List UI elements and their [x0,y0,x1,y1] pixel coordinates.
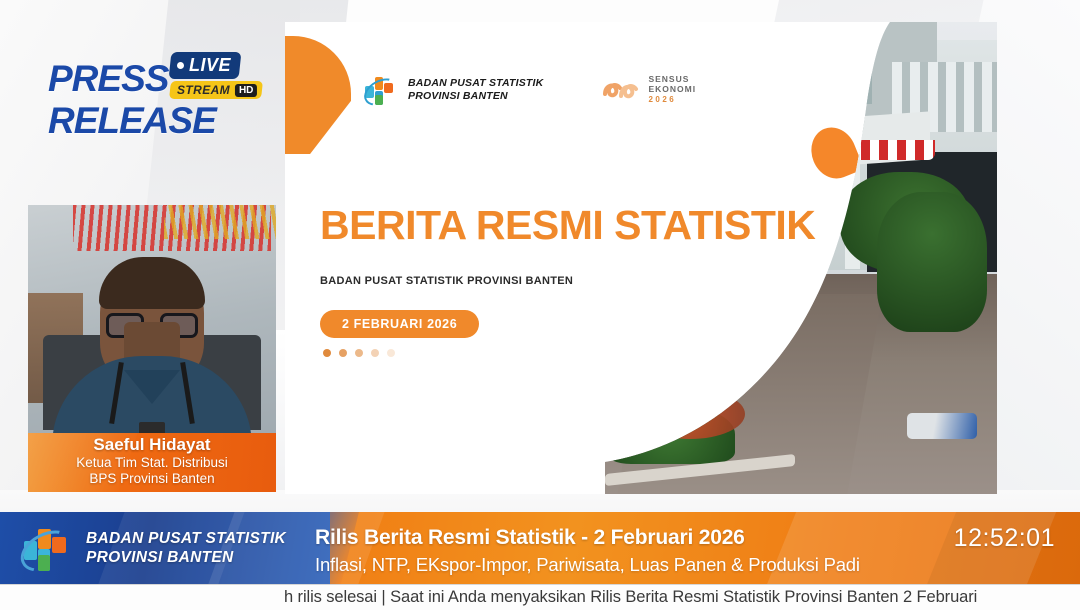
photo-flowerbed [635,389,745,439]
bps-logo-icon [365,75,399,105]
sensus-ekonomi-logo: SENSUS EKONOMI 2026 [601,74,696,105]
photo-building-sign [814,42,872,104]
sensus-line2: EKONOMI [648,84,696,94]
stream-label: STREAM [177,83,230,97]
slide-decor-shape-left [285,36,351,154]
release-label: RELEASE [48,100,288,142]
lower-third-banner: BADAN PUSAT STATISTIK PROVINSI BANTEN Ri… [0,512,1080,584]
presentation-slide: BADAN PUSAT STATISTIK PROVINSI BANTEN SE… [285,22,997,494]
photo-sign-text-line [820,80,866,85]
hd-label: HD [235,84,257,97]
slide-progress-dot-1 [323,349,331,357]
live-tag: LIVE [169,52,242,79]
banner-clock: 12:52:01 [954,524,1055,553]
bps-logo-text: BADAN PUSAT STATISTIK PROVINSI BANTEN [408,77,543,102]
lanyard-strap-right [180,362,195,424]
live-dot-icon [177,62,184,69]
live-label: LIVE [189,55,231,76]
banner-logo-text: BADAN PUSAT STATISTIK PROVINSI BANTEN [86,529,286,567]
bps-logo: BADAN PUSAT STATISTIK PROVINSI BANTEN [365,75,543,105]
slide-progress-dot-5 [387,349,395,357]
photo-sign-logo-icon [828,50,854,76]
photo-garden-statue [660,368,698,394]
news-ticker-bar: h rilis selesai | Saat ini Anda menyaksi… [0,584,1080,610]
press-release-overlay: PRESS RELEASE LIVE STREAM HD [48,58,288,173]
banner-subheadline: Inflasi, NTP, EKspor-Impor, Pariwisata, … [315,554,860,576]
slide-progress-dots [323,349,395,357]
cam-decor-banner [164,205,276,239]
presenter-nameplate: Saeful Hidayat Ketua Tim Stat. Distribus… [28,433,276,492]
slide-header-logos: BADAN PUSAT STATISTIK PROVINSI BANTEN SE… [365,74,696,105]
presenter-org: BPS Provinsi Banten [28,471,276,487]
banner-headline: Rilis Berita Resmi Statistik - 2 Februar… [315,526,745,550]
stream-tag: STREAM HD [169,81,262,99]
banner-logo-line2: PROVINSI BANTEN [86,549,233,566]
sensus-line1: SENSUS [648,74,689,84]
bps-logo-line2: PROVINSI BANTEN [408,90,508,102]
photo-sign-text-line [824,88,862,93]
presenter-name: Saeful Hidayat [28,435,276,455]
slide-progress-dot-4 [371,349,379,357]
sensus-logo-text: SENSUS EKONOMI 2026 [648,74,696,105]
bps-logo-line1: BADAN PUSAT STATISTIK [408,77,543,89]
slide-title: BERITA RESMI STATISTIK [320,202,815,249]
ticker-text: h rilis selesai | Saat ini Anda menyaksi… [284,588,977,607]
slide-date-badge: 2 FEBRUARI 2026 [320,310,479,338]
photo-palm [877,192,987,332]
photo-blue-object [907,413,977,439]
live-stream-badge: LIVE STREAM HD [170,52,270,99]
banner-bps-logo: BADAN PUSAT STATISTIK PROVINSI BANTEN [22,525,286,571]
slide-progress-dot-3 [355,349,363,357]
slide-progress-dot-2 [339,349,347,357]
presenter-role: Ketua Tim Stat. Distribusi [28,455,276,471]
banner-logo-line1: BADAN PUSAT STATISTIK [86,530,286,547]
presenter-collar [124,370,180,404]
sensus-logo-icon [601,76,641,104]
slide-subtitle: BADAN PUSAT STATISTIK PROVINSI BANTEN [320,275,573,287]
lanyard-strap-left [109,362,124,424]
bps-logo-icon [22,525,74,571]
sensus-year: 2026 [648,95,676,104]
